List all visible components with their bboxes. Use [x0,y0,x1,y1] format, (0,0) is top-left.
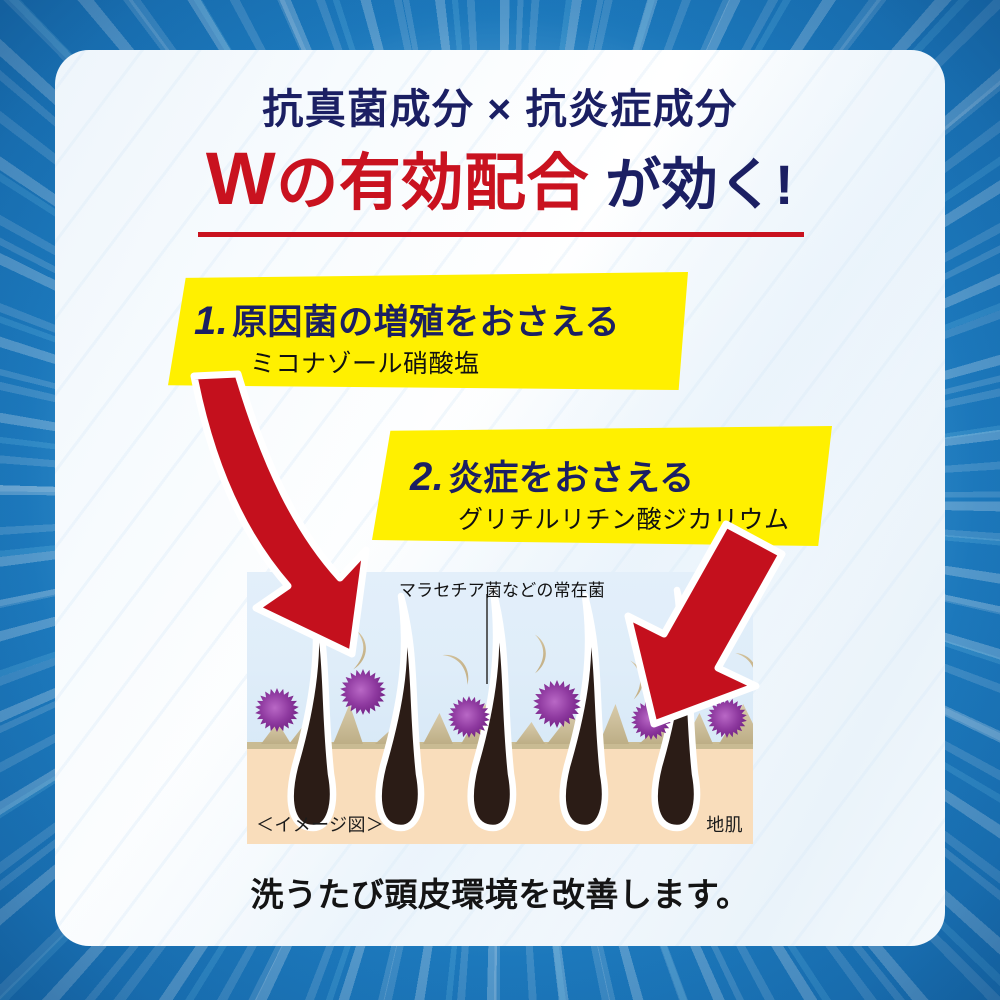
arrow-from-callout-2 [610,520,795,735]
arrow-2-shape [628,524,782,724]
callout-2-title-row: 2.炎症をおさえる [410,450,694,501]
bacteria-label: マラセチア菌などの常在菌 [399,576,605,601]
headline-red-phrase: の有効配合 [276,149,589,218]
skin-spike [515,722,545,744]
callout-1-number: 1. [194,299,232,343]
image-note-label: ＜イメージ図＞ [256,811,384,837]
headline-underline [198,232,804,237]
scalp-label: 地肌 [706,811,743,837]
bacteria-cell [255,688,299,732]
headline-line-1: 抗真菌成分 × 抗炎症成分 [0,88,1000,131]
callout-1-title: 原因菌の増殖をおさえる [232,303,620,342]
arrow-from-callout-1 [170,372,380,662]
bacteria-cell [340,669,386,715]
headline-line-2: Wの有効配合 が効く! [0,140,1000,218]
callout-2-number: 2. [410,455,448,499]
arrow-1-shape [194,374,366,654]
callout-2-title: 炎症をおさえる [448,459,694,498]
hair-strand [379,596,421,828]
headline-block: 抗真菌成分 × 抗炎症成分 Wの有効配合 が効く! [0,88,1000,218]
dandruff-flake-shape [525,635,550,675]
headline-w-mark: W [206,137,276,220]
dandruff-flake [525,635,550,675]
bottom-caption: 洗うたび頭皮環境を改善します。 [0,868,1000,916]
dandruff-flake [443,648,473,689]
infographic-root: 抗真菌成分 × 抗炎症成分 Wの有効配合 が効く! 1.原因菌の増殖をおさえる … [0,0,1000,1000]
skin-spike [423,713,453,744]
callout-1-title-row: 1.原因菌の増殖をおさえる [194,294,620,345]
headline-tail-phrase: が効く! [589,153,794,216]
dandruff-flake-shape [443,648,473,689]
